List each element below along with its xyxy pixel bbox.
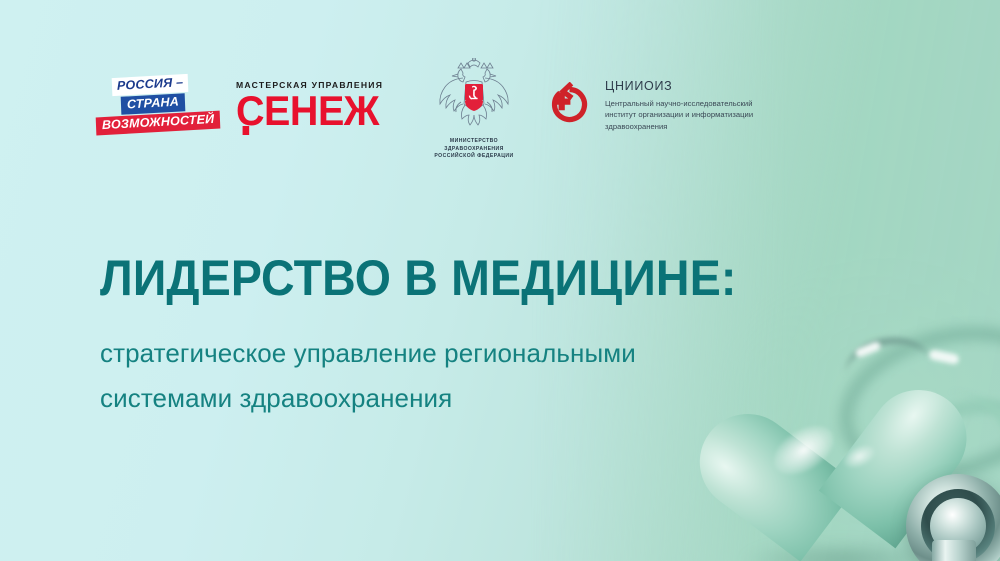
slide-subtitle-line-1: стратегическое управление региональными [100, 331, 800, 376]
headline-block: ЛИДЕРСТВО В МЕДИЦИНЕ: стратегическое упр… [100, 252, 800, 420]
cniioiz-description: Центральный научно-исследовательский инс… [605, 98, 753, 134]
logo-row: РОССИЯ – СТРАНА ВОЗМОЖНОСТЕЙ МАСТЕРСКАЯ … [0, 0, 1000, 175]
minzdrav-line-1: МИНИСТЕРСТВО [424, 138, 524, 146]
heart-highlight [765, 416, 842, 485]
minzdrav-line-3: РОССИЙСКОЙ ФЕДЕРАЦИИ [424, 153, 524, 161]
cniioiz-logo: ЦНИИОИЗ Центральный научно-исследователь… [546, 80, 753, 133]
chestpiece-stem [932, 540, 976, 561]
slide-subtitle-line-2: системами здравоохранения [100, 376, 800, 421]
cniioiz-mark [546, 82, 594, 132]
senezh-logo: МАСТЕРСКАЯ УПРАВЛЕНИЯ СЕНЕЖ [236, 80, 388, 131]
double-headed-eagle-icon [431, 58, 517, 136]
rsv-line-2: СТРАНА [121, 93, 186, 114]
minzdrav-caption: МИНИСТЕРСТВО ЗДРАВООХРАНЕНИЯ РОССИЙСКОЙ … [424, 138, 524, 161]
slide-title: ЛИДЕРСТВО В МЕДИЦИНЕ: [100, 252, 751, 305]
cniioiz-abbreviation: ЦНИИОИЗ [605, 80, 753, 93]
circular-arrow-cross-icon [546, 82, 594, 127]
heart-highlight-secondary [840, 440, 879, 473]
slide-subtitle: стратегическое управление региональными … [100, 331, 800, 420]
senezh-letter-tail [243, 126, 250, 135]
senezh-wordmark-text: СЕНЕЖ [236, 87, 379, 134]
rsv-line-3: ВОЗМОЖНОСТЕЙ [96, 111, 221, 135]
presentation-slide: РОССИЯ – СТРАНА ВОЗМОЖНОСТЕЙ МАСТЕРСКАЯ … [0, 0, 1000, 561]
rossiya-strana-vozmozhnostey-logo: РОССИЯ – СТРАНА ВОЗМОЖНОСТЕЙ [96, 76, 216, 134]
rsv-line-1: РОССИЯ – [112, 74, 189, 96]
senezh-wordmark: СЕНЕЖ [236, 92, 379, 131]
cniioiz-text-block: ЦНИИОИЗ Центральный научно-исследователь… [605, 80, 753, 133]
minzdrav-emblem: МИНИСТЕРСТВО ЗДРАВООХРАНЕНИЯ РОССИЙСКОЙ … [424, 58, 524, 161]
